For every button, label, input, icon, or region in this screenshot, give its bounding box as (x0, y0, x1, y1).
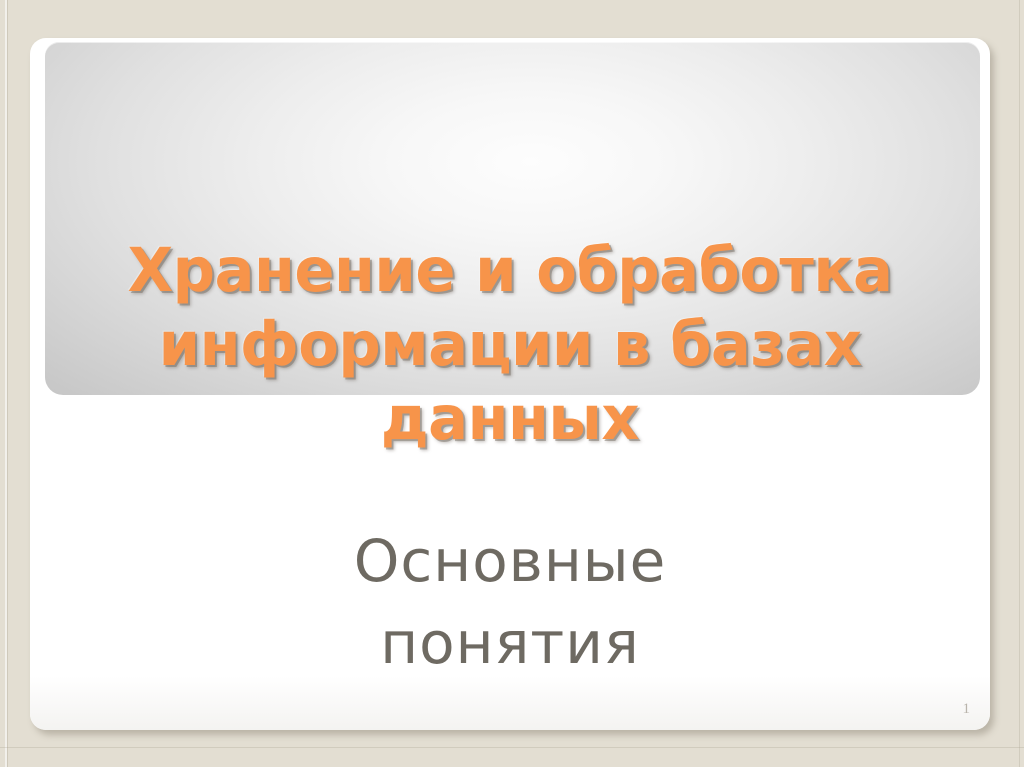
frame-edge-right (1019, 0, 1020, 767)
slide-subtitle: Основные понятия (30, 520, 990, 684)
slide-card: Хранение и обработка информации в базах … (30, 38, 990, 730)
presentation-page: Хранение и обработка информации в базах … (0, 0, 1024, 767)
title-line-3: данных (44, 382, 975, 456)
subtitle-line-1: Основные (30, 520, 990, 602)
subtitle-line-2: понятия (30, 602, 990, 684)
title-line-1: Хранение и обработка (44, 234, 975, 308)
slide-page-number: 1 (963, 701, 971, 718)
title-line-2: информации в базах (44, 308, 975, 382)
frame-edge-bottom (0, 747, 1024, 748)
slide-title: Хранение и обработка информации в базах … (30, 234, 990, 456)
frame-edge-left-shadow (7, 0, 8, 767)
